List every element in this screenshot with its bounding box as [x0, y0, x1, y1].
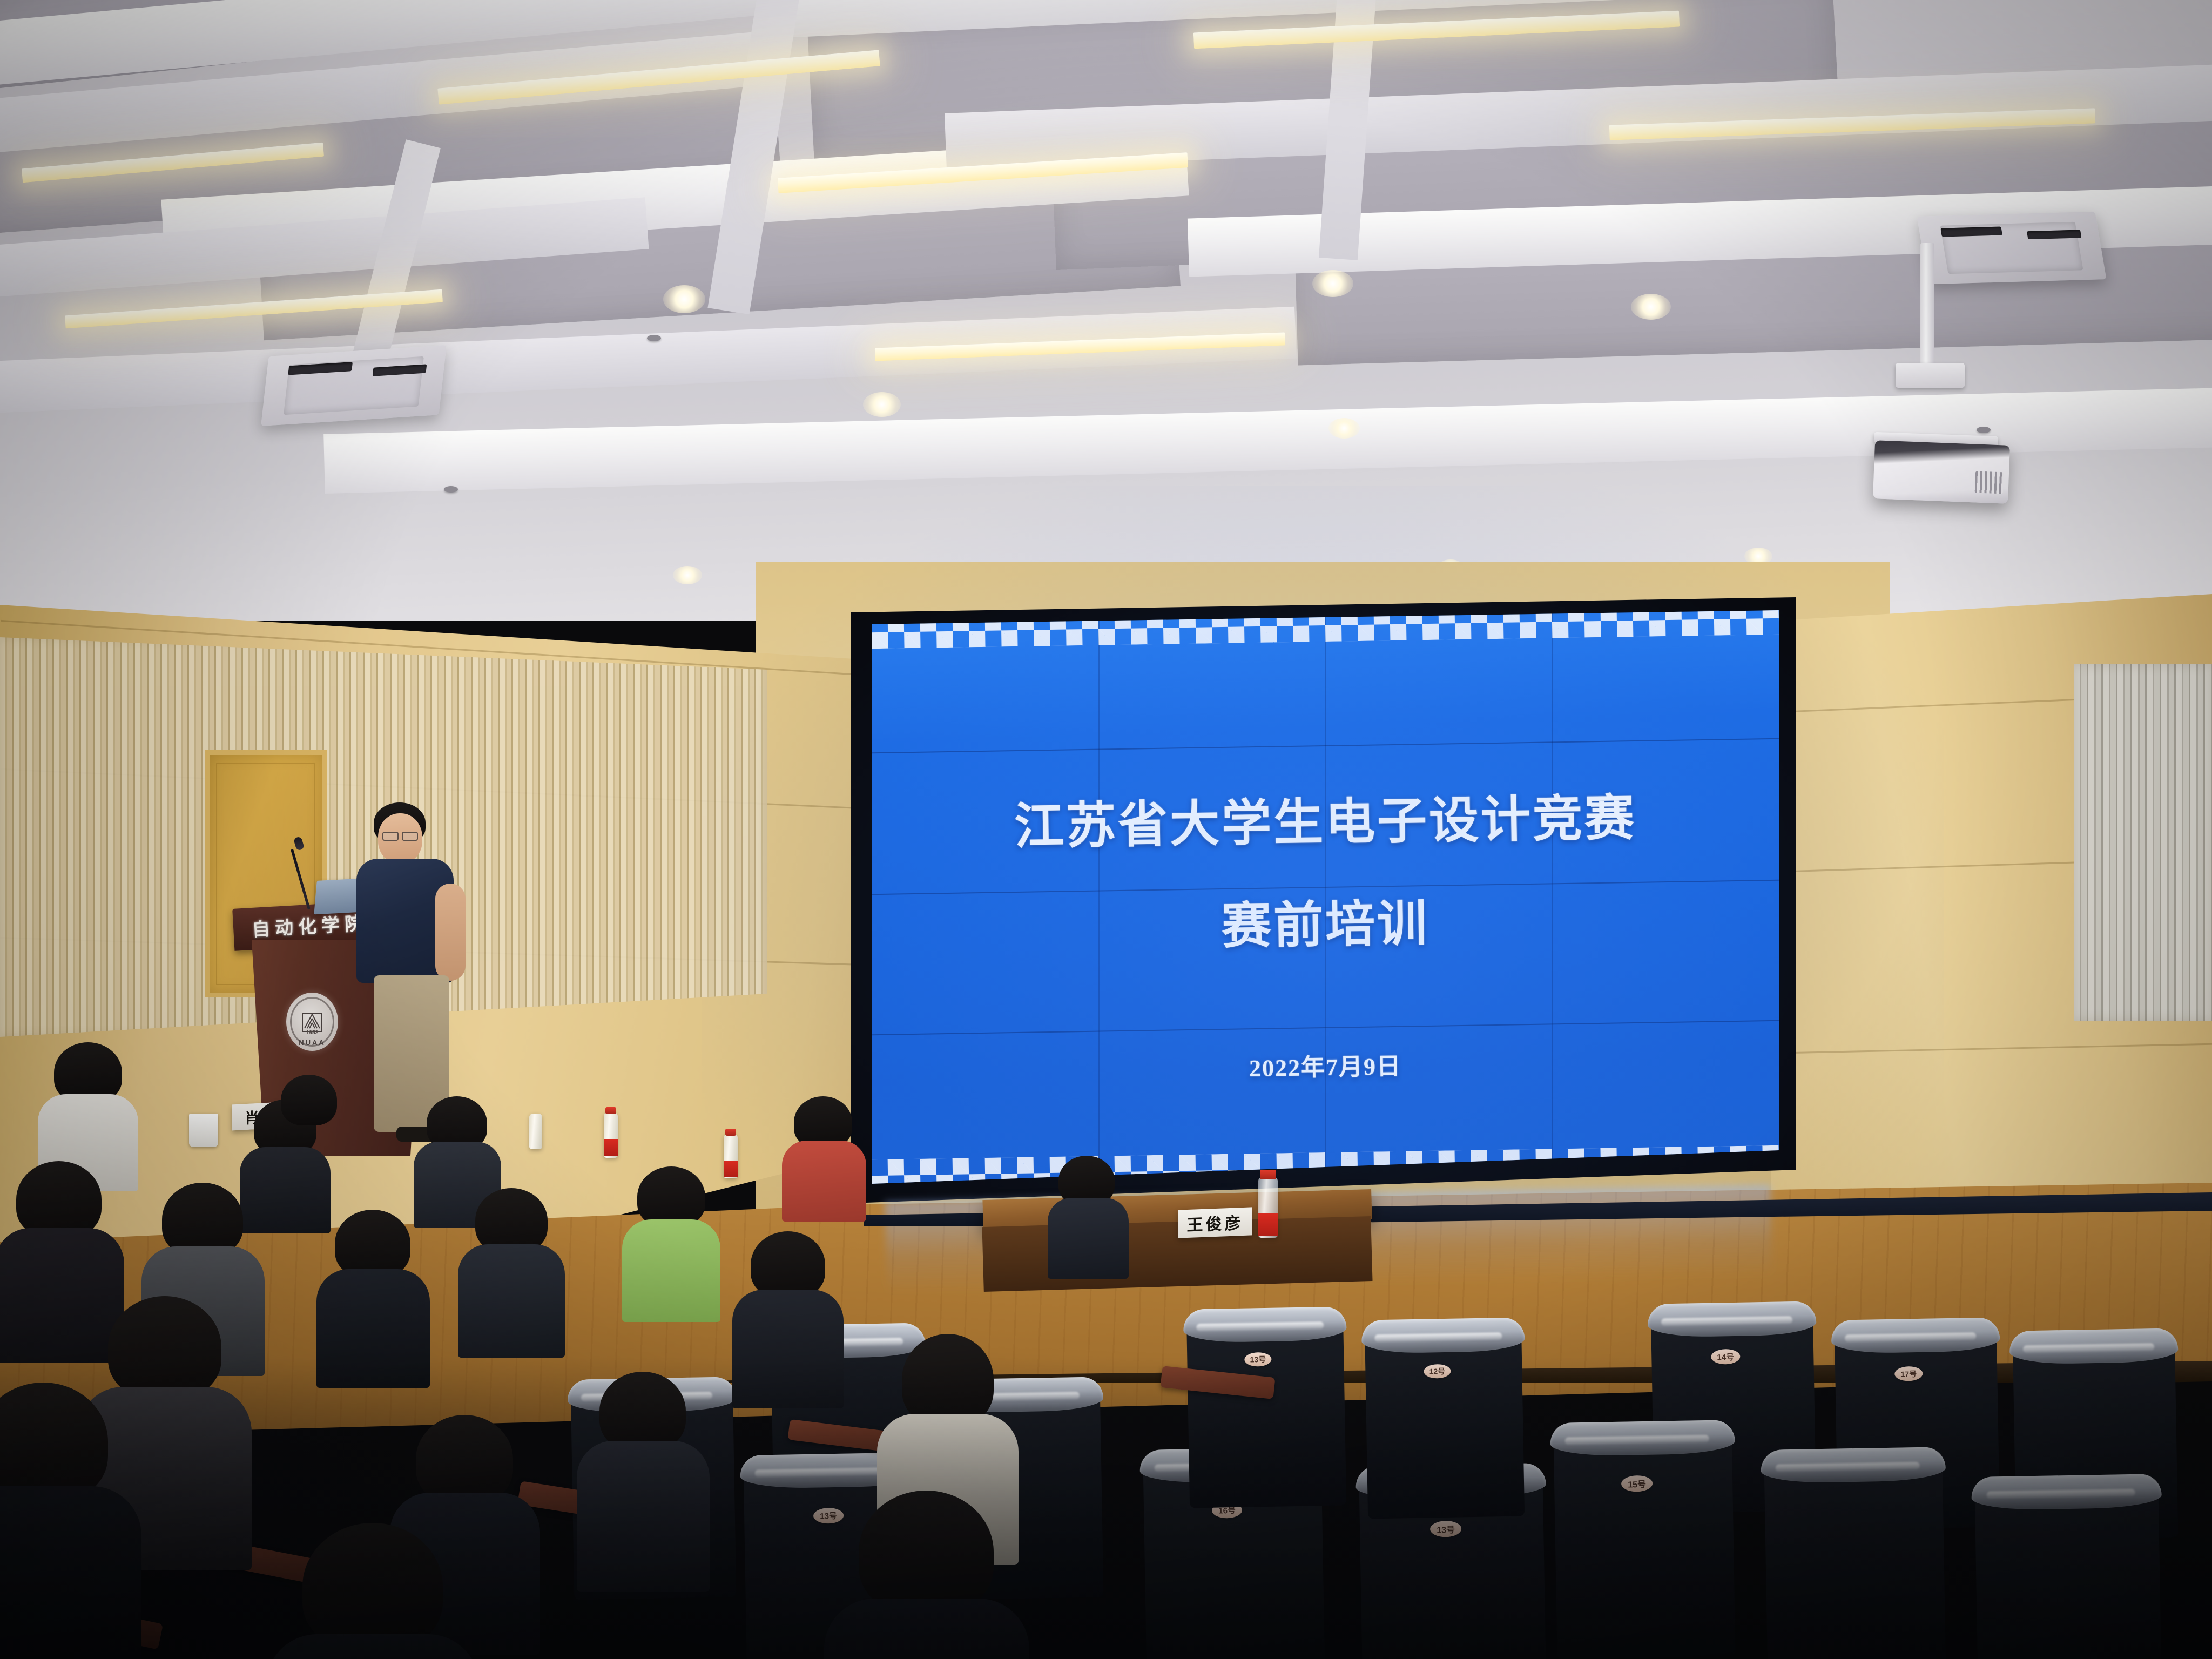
ceiling-downlight — [1631, 294, 1671, 320]
audience-hair — [751, 1231, 825, 1298]
ceiling-downlight — [863, 392, 901, 417]
audience-hair — [902, 1334, 994, 1426]
speaker-arm — [435, 884, 466, 981]
seat-back — [1553, 1424, 1735, 1659]
audience-hair — [335, 1210, 410, 1278]
seat-back — [1764, 1451, 1946, 1659]
audience-shoulders — [266, 1634, 480, 1659]
seat-number-text: 17号 — [1900, 1368, 1917, 1380]
seat-number-text: 13号 — [1437, 1522, 1455, 1536]
projector-mount-bracket — [1896, 363, 1965, 388]
audience-shoulders — [732, 1290, 844, 1408]
smoke-detector-icon — [444, 486, 458, 493]
glasses-icon — [402, 832, 418, 841]
air-conditioner-vent — [1940, 226, 2002, 237]
water-bottle — [724, 1134, 738, 1178]
nuaa-emblem: 1952 NUAA — [286, 993, 338, 1051]
auditorium-seat[interactable]: 15号 — [1553, 1424, 1735, 1659]
audience-shoulders — [1048, 1198, 1129, 1279]
seat-headrest — [1183, 1306, 1347, 1343]
auditorium-seat[interactable] — [1974, 1478, 2162, 1659]
audience-shoulders — [577, 1441, 710, 1592]
ceiling — [0, 0, 2212, 621]
auditorium-scene: 江苏省大学生电子设计竞赛 赛前培训 2022年7月9日 自动化学院 1952 N… — [0, 0, 2212, 1659]
audience-hair — [108, 1296, 221, 1399]
auditorium-seat[interactable]: 12号 — [1365, 1321, 1525, 1519]
nameplate-text: 王俊彦 — [1187, 1210, 1244, 1236]
audience-shoulders — [0, 1486, 141, 1659]
ceiling-downlight — [1312, 270, 1353, 297]
ceiling-beam — [0, 307, 1297, 415]
acoustic-slat-panel — [2074, 664, 2212, 1021]
seat-number-text: 14号 — [1717, 1351, 1734, 1363]
seat-headrest — [1971, 1474, 2162, 1510]
audience-hair — [416, 1415, 513, 1503]
audience-hair — [475, 1188, 548, 1253]
water-bottle — [604, 1112, 618, 1158]
ceiling-downlight — [663, 285, 705, 313]
seat-headrest — [1761, 1447, 1946, 1483]
ceiling-downlight — [1328, 418, 1360, 439]
slide-date: 2022年7月9日 — [872, 1041, 1779, 1088]
emblem-year: 1952 — [286, 1030, 338, 1036]
bottle-cap — [605, 1107, 616, 1114]
seat-number-text: 15号 — [1628, 1477, 1646, 1491]
audience-hair — [637, 1166, 705, 1227]
seat-headrest — [1648, 1301, 1817, 1337]
audience-shoulders — [622, 1219, 720, 1322]
audience-hair — [302, 1523, 443, 1650]
audience-shoulders — [0, 1228, 124, 1363]
nameplate: 王俊彦 — [1178, 1207, 1252, 1238]
projector-icon — [1873, 440, 2010, 504]
projector-mount-pole — [1920, 243, 1934, 372]
auditorium-seat[interactable]: 13号 — [1186, 1311, 1346, 1508]
led-screen: 江苏省大学生电子设计竞赛 赛前培训 2022年7月9日 — [872, 610, 1779, 1184]
audience-shoulders — [316, 1269, 430, 1388]
slide-subtitle: 赛前培训 — [872, 878, 1779, 962]
seat-number-text: 13号 — [820, 1510, 837, 1522]
air-conditioner-vent — [2027, 230, 2082, 239]
air-conditioner-unit — [261, 345, 447, 426]
seat-headrest — [1361, 1317, 1525, 1353]
seat-headrest — [1550, 1420, 1735, 1456]
bottle-cap — [725, 1129, 736, 1136]
audience-shoulders — [824, 1599, 1029, 1659]
air-conditioner-vent — [288, 362, 353, 375]
water-bottle — [529, 1114, 542, 1149]
audience-hair — [281, 1075, 337, 1125]
audience-shoulders — [782, 1141, 866, 1222]
bottle-label — [724, 1161, 738, 1177]
audience-hair — [16, 1161, 102, 1238]
seat-headrest — [1831, 1317, 2000, 1353]
seat-number-text: 12号 — [1429, 1366, 1445, 1377]
auditorium-seat[interactable] — [1764, 1451, 1946, 1659]
paper-cup — [189, 1114, 218, 1147]
glasses-icon — [382, 832, 399, 841]
air-conditioner-unit — [1917, 212, 2106, 285]
water-bottle — [1258, 1177, 1278, 1238]
slide-title: 江苏省大学生电子设计竞赛 — [872, 775, 1779, 860]
audience-hair — [599, 1372, 686, 1451]
bottle-label — [604, 1139, 618, 1156]
seat-number-text: 13号 — [1250, 1354, 1266, 1365]
audience-hair — [859, 1491, 994, 1614]
projector-vent — [1975, 471, 2004, 494]
air-conditioner-vent — [373, 365, 427, 376]
bottle-label — [1258, 1213, 1278, 1236]
head-table-front — [982, 1216, 1372, 1292]
audience-hair — [162, 1183, 243, 1256]
audience-shoulders — [240, 1147, 331, 1233]
smoke-detector-icon — [647, 335, 661, 341]
audience-shoulders — [458, 1244, 565, 1358]
ceiling-downlight — [673, 566, 702, 584]
bottle-cap — [1260, 1170, 1276, 1179]
emblem-acronym: NUAA — [286, 1038, 338, 1047]
smoke-detector-icon — [1977, 427, 1991, 433]
seat-headrest — [2009, 1328, 2179, 1364]
